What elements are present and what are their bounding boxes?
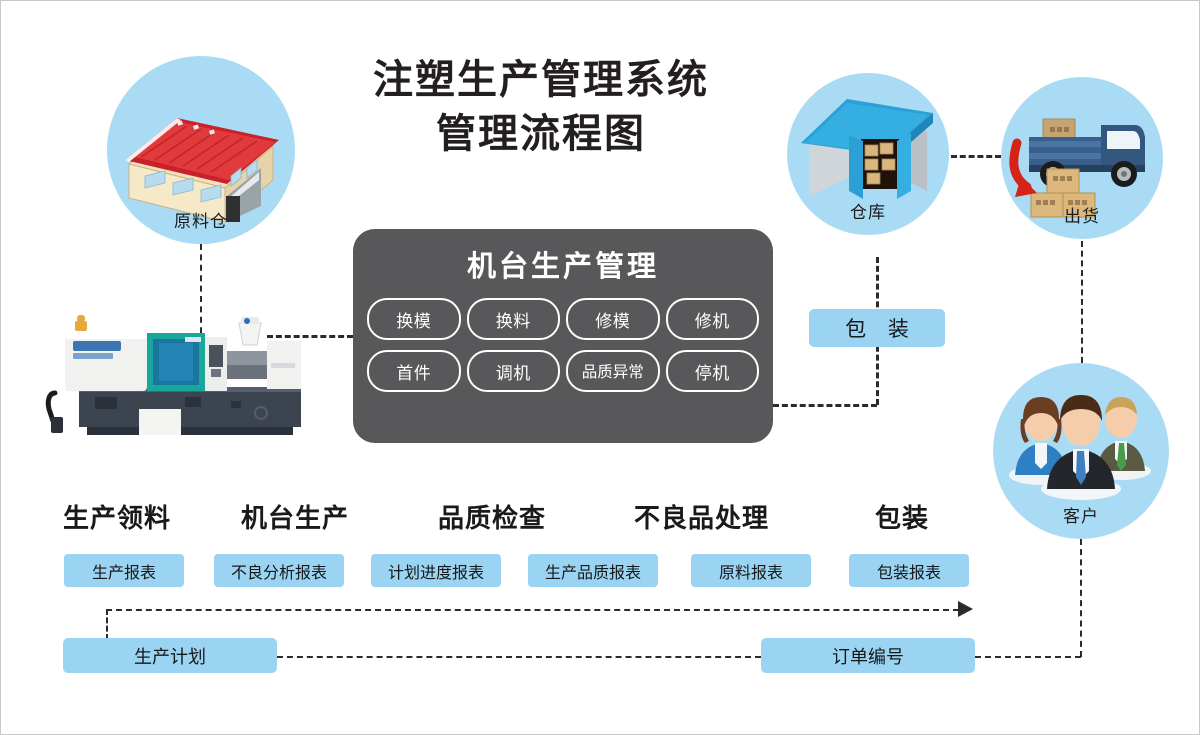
injection-molding-machine-art [35, 301, 325, 441]
pill-stop-machine[interactable]: 停机 [666, 350, 760, 392]
node-shipping[interactable]: 出货 [1001, 77, 1163, 239]
report-chip-raw-material[interactable]: 原料报表 [691, 554, 811, 587]
connector-order-to-right [975, 656, 1081, 658]
stage-heading-packaging: 包装 [875, 498, 929, 535]
node-label-warehouse: 仓库 [850, 198, 886, 235]
machine-panel-title: 机台生产管理 [353, 243, 773, 285]
report-chip-plan-progress[interactable]: 计划进度报表 [371, 554, 501, 587]
stage-heading-quality-inspection: 品质检查 [438, 498, 546, 535]
connector-plan-to-order [277, 656, 761, 658]
node-warehouse[interactable]: 仓库 [787, 73, 949, 235]
node-label-customer: 客户 [1063, 502, 1099, 539]
report-chip-production-quality[interactable]: 生产品质报表 [528, 554, 658, 587]
bottom-flow-arrowhead [958, 601, 973, 617]
connector-order-up-to-customer [1080, 539, 1082, 657]
connector-shipping-to-customer [1081, 241, 1083, 363]
connector-prodplan-up [106, 609, 108, 640]
pill-quality-abnormal[interactable]: 品质异常 [566, 350, 660, 392]
injection-molding-machine-photo [35, 301, 325, 441]
connector-panel-to-packaging-path [773, 404, 877, 407]
pill-change-mold[interactable]: 换模 [367, 298, 461, 340]
page-title: 注塑生产管理系统 管理流程图 [321, 53, 761, 161]
machine-pill-grid: 换模 换料 修模 修机 首件 调机 品质异常 停机 [353, 298, 773, 392]
report-chip-production[interactable]: 生产报表 [64, 554, 184, 587]
stage-heading-material-requisition: 生产领料 [63, 498, 171, 535]
flowchart-canvas: 注塑生产管理系统 管理流程图 [0, 0, 1200, 735]
node-customer[interactable]: 客户 [993, 363, 1169, 539]
page-title-line-1: 注塑生产管理系统 [321, 53, 761, 107]
connector-warehouse-to-shipping [951, 155, 1001, 158]
stage-heading-defect-handling: 不良品处理 [634, 498, 769, 535]
report-chip-packaging[interactable]: 包装报表 [849, 554, 969, 587]
node-label-shipping: 出货 [1064, 202, 1100, 239]
pill-repair-mold[interactable]: 修模 [566, 298, 660, 340]
box-production-plan[interactable]: 生产计划 [63, 638, 277, 673]
pill-machine-adjust[interactable]: 调机 [467, 350, 561, 392]
page-title-line-2: 管理流程图 [321, 107, 761, 161]
box-packaging[interactable]: 包 装 [809, 309, 945, 347]
pill-repair-machine[interactable]: 修机 [666, 298, 760, 340]
stage-heading-machine-production: 机台生产 [241, 498, 349, 535]
node-label-raw-material-warehouse: 原料仓 [174, 207, 228, 244]
pill-change-material[interactable]: 换料 [467, 298, 561, 340]
pill-first-article[interactable]: 首件 [367, 350, 461, 392]
node-raw-material-warehouse[interactable]: 原料仓 [107, 56, 295, 244]
connector-bottom-arrow-line [106, 609, 959, 611]
box-order-number[interactable]: 订单编号 [761, 638, 975, 673]
report-chip-defect-analysis[interactable]: 不良分析报表 [214, 554, 344, 587]
machine-production-management-panel: 机台生产管理 换模 换料 修模 修机 首件 调机 品质异常 停机 [353, 229, 773, 443]
